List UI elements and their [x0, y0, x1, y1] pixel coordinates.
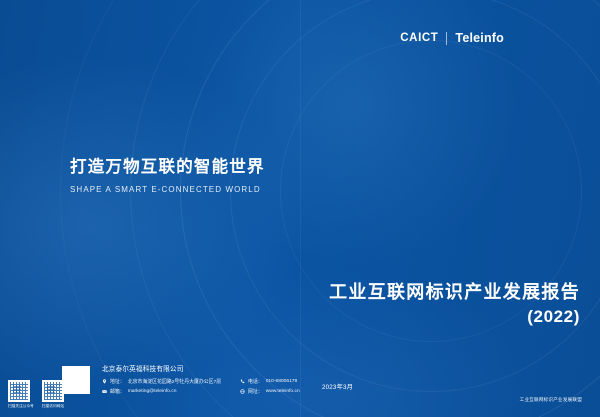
qr-caption-website: 扫描访问网站	[42, 404, 64, 409]
company-email-label: 邮箱：	[110, 388, 125, 395]
globe-icon	[240, 389, 245, 394]
company-address: 地址： 北京市海淀区花园路2号牡丹大厦办公区7层	[102, 378, 230, 385]
page-fold-line	[300, 0, 301, 417]
company-details: 北京泰尔英福科技有限公司 地址： 北京市海淀区花园路2号牡丹大厦办公区7层 电话…	[102, 360, 300, 395]
location-pin-icon	[102, 379, 107, 384]
logo-divider	[446, 32, 447, 45]
mail-icon	[102, 389, 107, 394]
company-phone: 电话： 010-68006178	[240, 378, 300, 385]
cover-title-year: (2022)	[329, 305, 580, 329]
qr-code-image-website	[42, 380, 64, 402]
slogan-english: SHAPE A SMART E-CONNECTED WORLD	[70, 185, 265, 194]
company-email-value: marketing@teleinfo.cn	[128, 389, 177, 394]
cover-organization: 工业互联网标识产业发展联盟	[520, 397, 582, 403]
qr-caption-wechat: 扫描关注公众号	[8, 404, 34, 409]
cover-title-main: 工业互联网标识产业发展报告	[329, 281, 580, 304]
company-logo-mark	[62, 366, 90, 394]
slogan-block: 打造万物互联的智能世界 SHAPE A SMART E-CONNECTED WO…	[70, 158, 265, 194]
brand-logo: CAICT Teleinfo	[400, 31, 504, 45]
company-phone-value: 010-68006178	[266, 379, 298, 384]
qr-code-image-wechat	[8, 380, 30, 402]
company-website-label: 网址：	[248, 388, 263, 395]
cover-title-block: 工业互联网标识产业发展报告 (2022)	[329, 281, 580, 328]
company-address-label: 地址：	[110, 378, 125, 385]
logo-teleinfo-text: Teleinfo	[455, 31, 504, 45]
company-website: 网址： www.teleinfo.cn	[240, 388, 300, 395]
qr-item-website: 扫描访问网站	[42, 380, 64, 409]
company-email: 邮箱： marketing@teleinfo.cn	[102, 388, 230, 395]
slogan-chinese: 打造万物互联的智能世界	[70, 158, 265, 178]
company-name: 北京泰尔英福科技有限公司	[102, 363, 300, 373]
company-info-block: 北京泰尔英福科技有限公司 地址： 北京市海淀区花园路2号牡丹大厦办公区7层 电话…	[62, 360, 300, 395]
qr-code-group: 扫描关注公众号 扫描访问网站	[8, 380, 64, 409]
cover-publish-date: 2023年3月	[322, 382, 353, 391]
phone-icon	[240, 379, 245, 384]
company-phone-label: 电话：	[248, 378, 263, 385]
company-contact-grid: 地址： 北京市海淀区花园路2号牡丹大厦办公区7层 电话： 010-6800617…	[102, 378, 300, 395]
company-address-value: 北京市海淀区花园路2号牡丹大厦办公区7层	[128, 378, 221, 385]
qr-item-wechat: 扫描关注公众号	[8, 380, 34, 409]
report-cover-spread: CAICT Teleinfo 打造万物互联的智能世界 SHAPE A SMART…	[0, 0, 600, 417]
logo-caict-text: CAICT	[400, 32, 438, 44]
company-website-value: www.teleinfo.cn	[266, 389, 300, 394]
